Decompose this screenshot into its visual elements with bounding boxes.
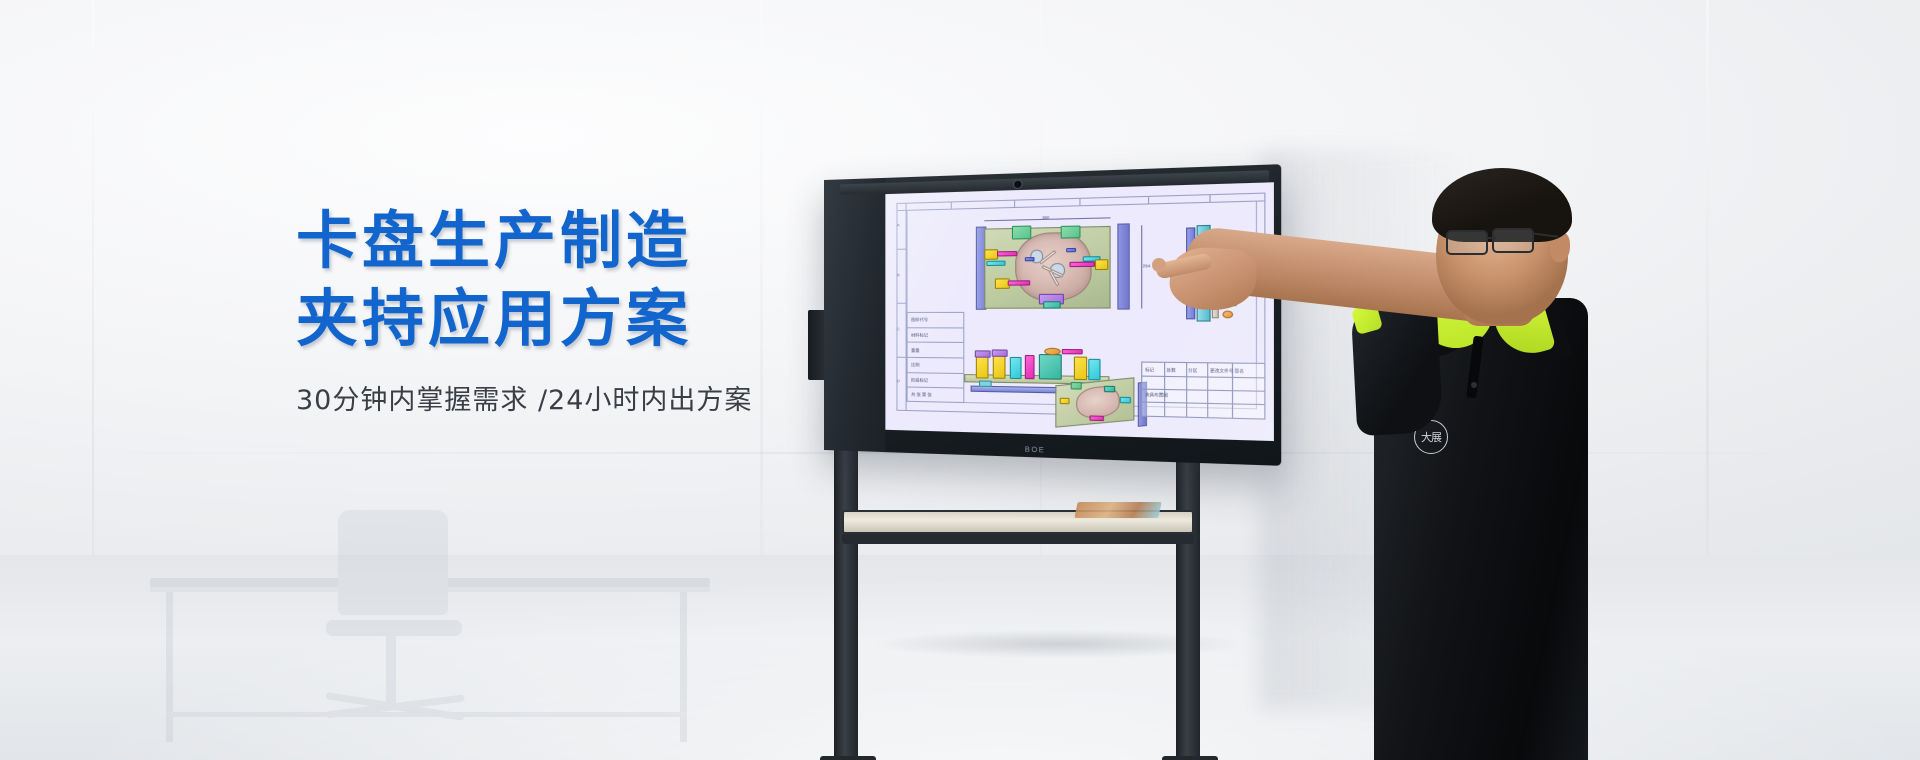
glasses-icon — [1446, 230, 1488, 255]
clamp-green — [1012, 226, 1032, 240]
headline-line-2: 夹持应用方案 — [296, 282, 856, 356]
clamp-cyan — [1089, 359, 1101, 380]
clamp-teal — [1039, 354, 1062, 379]
presenter-hand — [1168, 245, 1258, 313]
cad-title-block-cell: 处数 — [1166, 367, 1175, 374]
cad-view-top: 380 264 — [976, 222, 1130, 312]
clamp-blue — [1067, 248, 1076, 253]
clamp-teal — [1044, 301, 1061, 308]
clamp-purple — [975, 350, 991, 358]
clamp-teal — [1104, 386, 1115, 392]
cad-side-label: 共 张 第 张 — [911, 391, 932, 398]
cad-side-label: 阶段标记 — [911, 377, 928, 383]
clamp-magenta — [1024, 355, 1034, 379]
clamp-cyan — [1010, 357, 1021, 379]
cad-title-block-cell: 标记 — [1145, 367, 1154, 374]
cad-side-label: 材料标记 — [911, 332, 928, 338]
finger-tip — [1152, 258, 1166, 272]
headline-line-1: 卡盘生产制造 — [296, 204, 856, 278]
cad-sheet-title: 夹具布置图 — [1145, 392, 1168, 399]
glasses-bridge — [1486, 237, 1496, 239]
clamp-magenta — [997, 251, 1018, 257]
shelf-item — [1074, 502, 1161, 518]
clamp-purple — [992, 349, 1008, 357]
cad-side-label: 比例 — [911, 362, 920, 368]
hero-copy: 卡盘生产制造 夹持应用方案 30分钟内掌握需求 /24小时内出方案 — [296, 204, 856, 420]
presenter: 大展 — [1178, 186, 1598, 760]
clamp-magenta — [1089, 415, 1104, 420]
clamp-green — [1061, 225, 1081, 238]
clamp-magenta — [1007, 280, 1030, 285]
clamp-yellow — [1074, 357, 1087, 380]
stand-shelf-underside — [842, 534, 1194, 544]
clamp-blue — [1025, 257, 1034, 262]
clamp-cyan — [1120, 397, 1131, 403]
cad-side-label: 图样代号 — [911, 317, 928, 323]
clamp-yellow — [1095, 259, 1109, 270]
clamp-cyan — [986, 260, 1005, 265]
polo-button — [1471, 382, 1477, 388]
stand-foot — [820, 756, 876, 760]
clamp-yellow — [1059, 398, 1069, 404]
cad-side-label-block: 图样代号 材料标记 重量 比例 阶段标记 共 张 第 张 — [907, 312, 965, 403]
clamp-green — [1071, 382, 1082, 389]
clamp-yellow — [993, 356, 1006, 379]
stand-post — [834, 438, 858, 760]
glasses-icon — [1492, 228, 1534, 253]
monitor-bezel-left — [824, 178, 885, 452]
cad-zone-column: A B C D — [896, 203, 907, 412]
clamp-yellow — [976, 357, 989, 378]
display-brand-label: BOE — [1025, 446, 1046, 454]
fixture-rail — [1117, 223, 1130, 309]
clamp-magenta — [1070, 262, 1095, 268]
cad-view-isometric — [1052, 378, 1146, 430]
fixture-leg — [979, 381, 992, 388]
hero-subtitle: 30分钟内掌握需求 /24小时内出方案 — [296, 382, 856, 420]
cad-side-label: 重量 — [911, 347, 920, 353]
hero-banner: 卡盘生产制造 夹持应用方案 30分钟内掌握需求 /24小时内出方案 BOE — [0, 0, 1920, 760]
clamp-magenta — [1062, 349, 1083, 354]
